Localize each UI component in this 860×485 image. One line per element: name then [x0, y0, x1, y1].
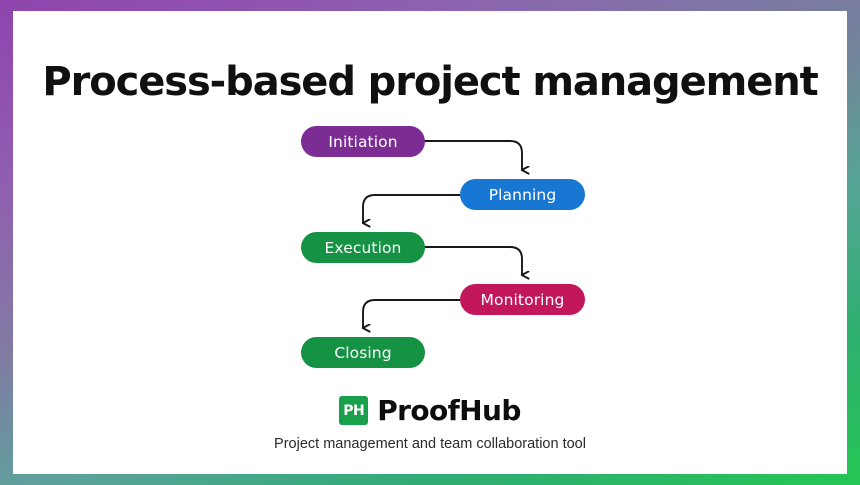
- brand-logo: PH ProofHub: [13, 394, 847, 427]
- footer: PH ProofHub Project management and team …: [13, 394, 847, 452]
- flow-node-execution[interactable]: Execution: [301, 232, 425, 263]
- slide-canvas: Process-based project management I: [0, 0, 860, 485]
- connector-execution-monitoring: [425, 247, 522, 275]
- flow-node-label: Planning: [489, 186, 557, 204]
- brand-tagline: Project management and team collaboratio…: [13, 436, 847, 452]
- slide-card: Process-based project management I: [13, 11, 847, 474]
- flow-node-label: Initiation: [328, 133, 397, 151]
- page-title: Process-based project management: [13, 59, 847, 105]
- connector-planning-execution: [363, 195, 460, 223]
- brand-name: ProofHub: [377, 394, 521, 427]
- proofhub-logo-icon: PH: [339, 396, 368, 425]
- flow-connectors: [13, 106, 847, 381]
- flow-node-label: Execution: [325, 239, 402, 257]
- flow-node-planning[interactable]: Planning: [460, 179, 585, 210]
- flow-node-closing[interactable]: Closing: [301, 337, 425, 368]
- flow-node-initiation[interactable]: Initiation: [301, 126, 425, 157]
- flow-node-label: Closing: [334, 344, 391, 362]
- connector-monitoring-closing: [363, 300, 460, 328]
- flow-node-label: Monitoring: [481, 291, 565, 309]
- process-flowchart: Initiation Planning Execution Monitoring…: [13, 106, 847, 381]
- connector-initiation-planning: [425, 141, 522, 170]
- flow-node-monitoring[interactable]: Monitoring: [460, 284, 585, 315]
